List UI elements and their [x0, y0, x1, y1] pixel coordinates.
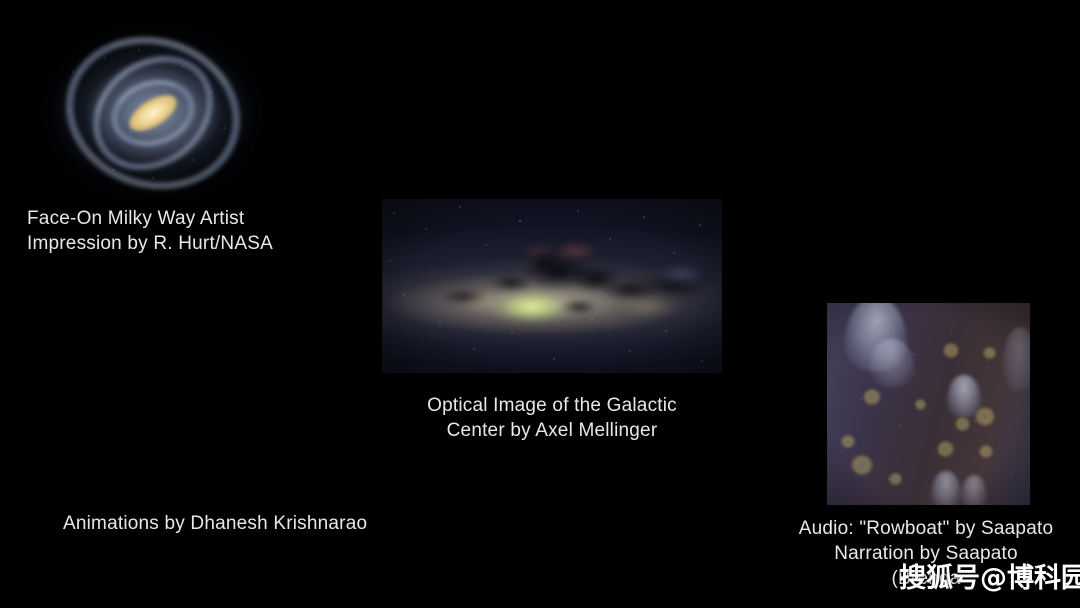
- galactic-center-panorama-image: [382, 199, 722, 373]
- caption-line: Animations by Dhanesh Krishnarao: [63, 511, 367, 536]
- caption-line: Audio: "Rowboat" by Saapato: [795, 516, 1057, 541]
- caption-face-on-milky-way: Face-On Milky Way Artist Impression by R…: [27, 206, 273, 256]
- caption-line: Face-On Milky Way Artist: [27, 206, 273, 231]
- galactic-center-panorama-figure: [382, 199, 722, 373]
- panorama-vignette: [382, 199, 722, 373]
- site-watermark: 搜狐号@博科园: [899, 563, 1080, 595]
- face-on-milky-way-figure: [43, 20, 263, 205]
- caption-line: Optical Image of the Galactic: [406, 393, 698, 418]
- caption-line: Impression by R. Hurt/NASA: [27, 231, 273, 256]
- face-on-milky-way-image: [43, 20, 263, 205]
- caption-galactic-center-panorama: Optical Image of the Galactic Center by …: [406, 393, 698, 443]
- caption-line: Center by Axel Mellinger: [406, 418, 698, 443]
- jellyfish-footage-figure: [827, 303, 1030, 505]
- jellyfish-vignette: [827, 303, 1030, 505]
- jellyfish-footage-image: [827, 303, 1030, 505]
- caption-animations-credit: Animations by Dhanesh Krishnarao: [63, 511, 367, 536]
- credits-slide: Face-On Milky Way Artist Impression by R…: [0, 0, 1080, 608]
